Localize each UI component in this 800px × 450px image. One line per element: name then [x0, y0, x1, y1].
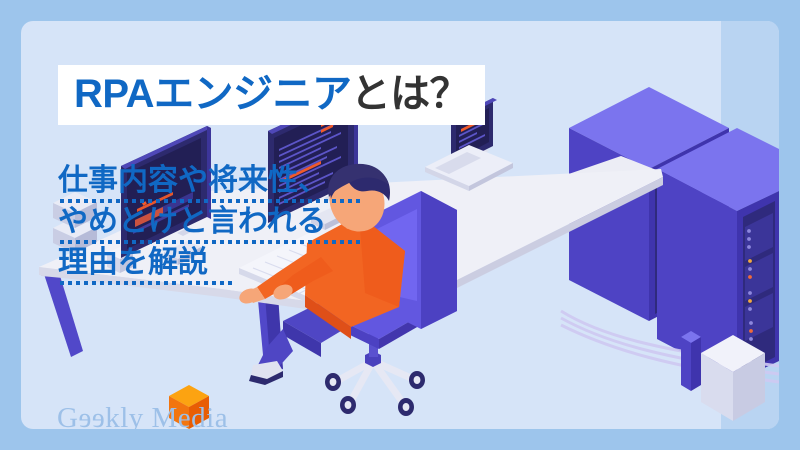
page-title-highlight: RPAエンジニア	[74, 72, 351, 116]
subtitle-line-3-text: 理由を解説	[58, 246, 208, 279]
page-title-suffix: とは？	[351, 72, 470, 116]
logo-part-3: kly Media	[105, 402, 228, 429]
logo-part-1: G	[57, 402, 78, 429]
inner-panel: RPAエンジニアとは？ 仕事内容や将来性、 やめとけと言われる 理由を解説 Ge…	[21, 21, 779, 429]
title-banner: RPAエンジニアとは？	[58, 65, 485, 125]
subtitle-line-1: 仕事内容や将来性、	[58, 166, 328, 203]
server-rack-front	[657, 128, 779, 381]
subtitle-line-2-text: やめとけと言われる	[58, 205, 327, 238]
banner-canvas: RPAエンジニアとは？ 仕事内容や将来性、 やめとけと言われる 理由を解説 Ge…	[0, 0, 800, 450]
subtitle-line-1-text: 仕事内容や将来性、	[58, 164, 328, 197]
dotted-underline	[60, 281, 236, 285]
dotted-underline	[60, 240, 360, 244]
subtitle-line-2: やめとけと言われる	[58, 207, 328, 244]
dotted-underline	[60, 199, 360, 203]
logo-part-2: ee	[78, 402, 105, 429]
floor-post	[681, 331, 701, 391]
subtitle-line-3: 理由を解説	[58, 248, 328, 285]
subtitle-block: 仕事内容や将来性、 やめとけと言われる 理由を解説	[58, 166, 328, 289]
brand-logo: Geekly Media	[57, 402, 228, 429]
